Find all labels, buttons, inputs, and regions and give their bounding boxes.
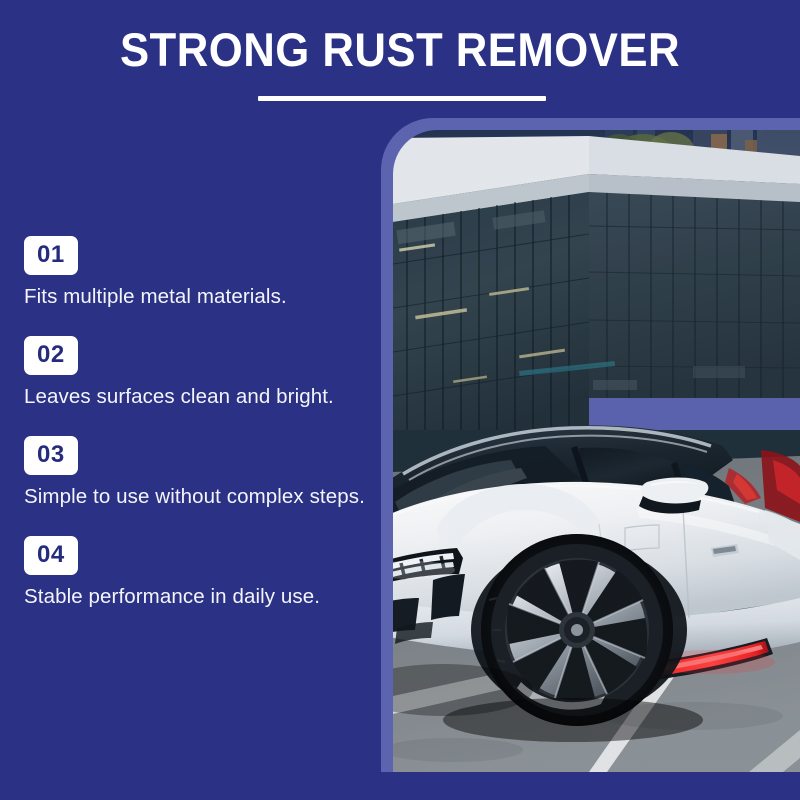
car-photo [393,130,800,772]
feature-list: 01 Fits multiple metal materials. 02 Lea… [24,236,376,636]
feature-number-badge: 04 [24,536,78,575]
list-item: 03 Simple to use without complex steps. [24,436,376,512]
feature-number-badge: 01 [24,236,78,275]
product-feature-poster: STRONG RUST REMOVER 01 Fits multiple met… [0,0,800,800]
product-image-panel [381,118,800,772]
feature-description: Fits multiple metal materials. [24,282,369,312]
list-item: 01 Fits multiple metal materials. [24,236,376,312]
product-image-frame [393,130,800,772]
poster-header: STRONG RUST REMOVER [0,0,800,118]
feature-number-badge: 02 [24,336,78,375]
page-title: STRONG RUST REMOVER [28,22,772,78]
title-divider [258,96,546,101]
list-item: 02 Leaves surfaces clean and bright. [24,336,376,412]
feature-description: Stable performance in daily use. [24,582,369,612]
feature-number-badge: 03 [24,436,78,475]
feature-description: Leaves surfaces clean and bright. [24,382,369,412]
feature-description: Simple to use without complex steps. [24,482,369,512]
list-item: 04 Stable performance in daily use. [24,536,376,612]
